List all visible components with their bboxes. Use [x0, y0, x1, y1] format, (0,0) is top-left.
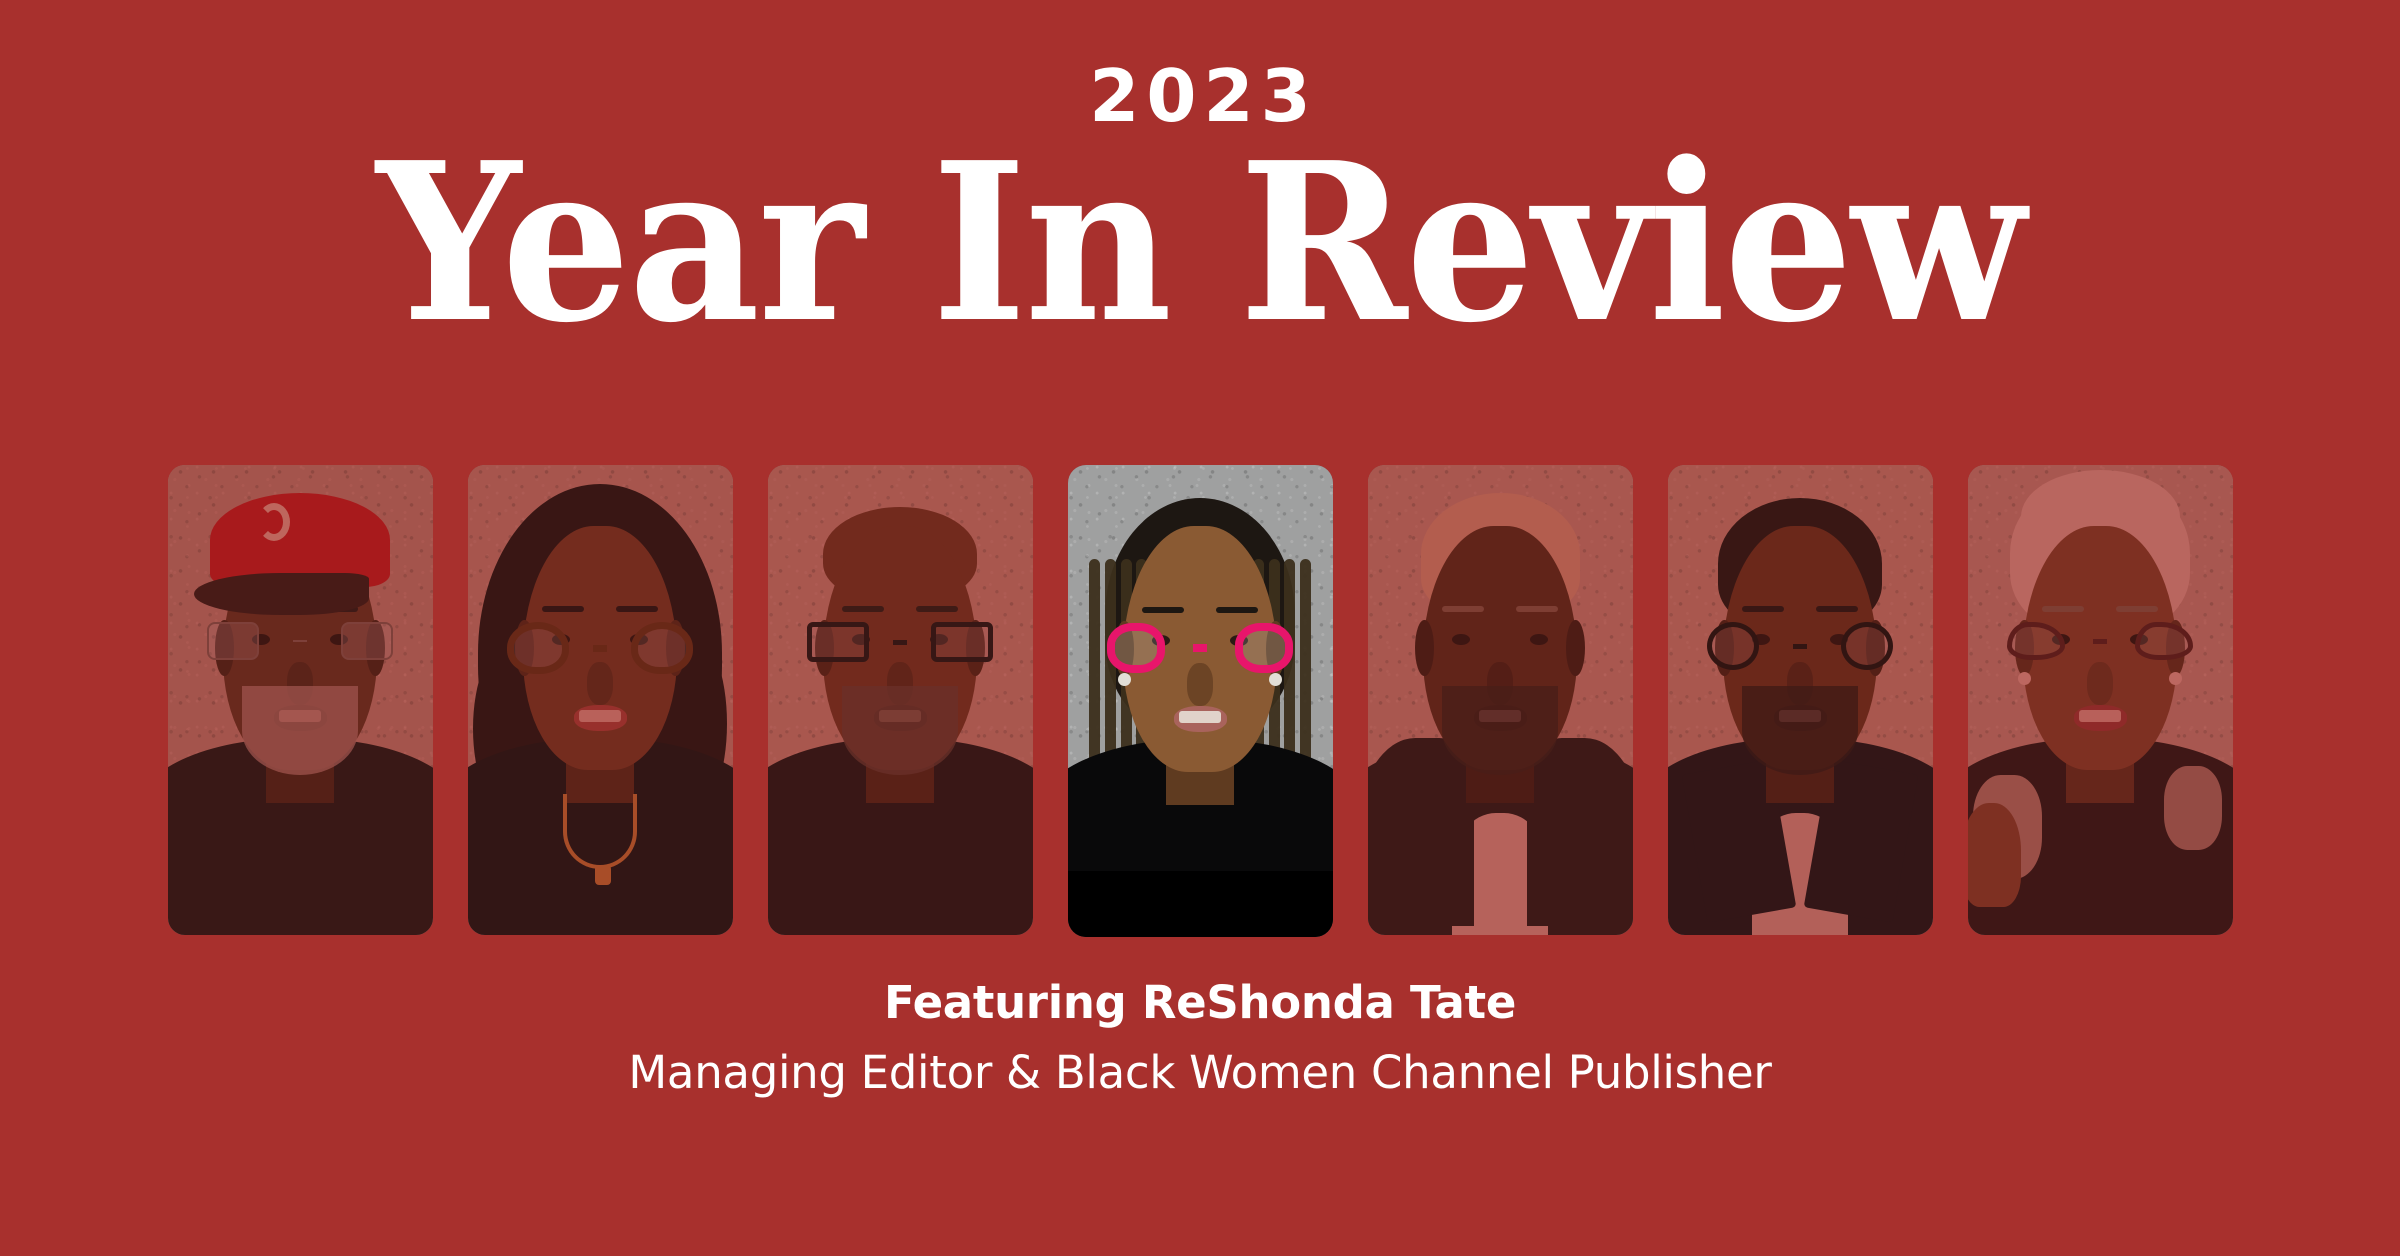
speaker-portrait-image	[468, 465, 733, 935]
speaker-portrait-image	[1668, 465, 1933, 935]
speaker-portrait-image	[168, 465, 433, 935]
speaker-thumbnail-4-active[interactable]	[1068, 465, 1333, 937]
speaker-portrait-image	[1968, 465, 2233, 935]
page-title: Year In Review	[84, 154, 2316, 333]
speaker-thumbnail-strip[interactable]	[0, 465, 2400, 937]
featuring-speaker-name: Featuring ReShonda Tate	[0, 975, 2400, 1031]
slide-footer: Featuring ReShonda Tate Managing Editor …	[0, 975, 2400, 1102]
speaker-thumbnail-3[interactable]	[768, 465, 1033, 935]
video-year-in-review-slide: 2023 Year In Review	[0, 0, 2400, 1256]
speaker-thumbnail-6[interactable]	[1668, 465, 1933, 935]
speaker-portrait-image	[1368, 465, 1633, 935]
slide-header: 2023 Year In Review	[0, 60, 2400, 333]
featuring-speaker-role: Managing Editor & Black Women Channel Pu…	[0, 1045, 2400, 1101]
speaker-thumbnail-1[interactable]	[168, 465, 433, 935]
speaker-thumbnail-2[interactable]	[468, 465, 733, 935]
speaker-thumbnail-5[interactable]	[1368, 465, 1633, 935]
speaker-thumbnail-7[interactable]	[1968, 465, 2233, 935]
speaker-portrait-image	[1068, 465, 1333, 937]
speaker-portrait-image	[768, 465, 1033, 935]
